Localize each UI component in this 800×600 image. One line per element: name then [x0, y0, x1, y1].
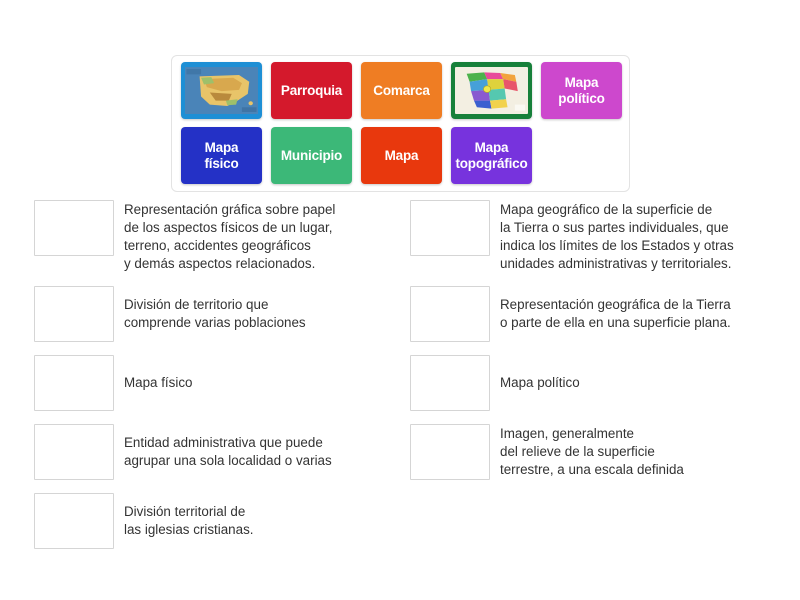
answer-row: División de territorio que comprende var…: [34, 286, 384, 342]
answer-drop-box[interactable]: [410, 286, 490, 342]
political-map-of-spain-image: [455, 67, 528, 114]
answer-row: Representación geográfica de la Tierra o…: [410, 286, 780, 342]
tile-mapa-físico[interactable]: Mapa físico: [181, 127, 262, 184]
answer-row: Entidad administrativa que puede agrupar…: [34, 424, 384, 480]
answer-definition-text: Imagen, generalmente del relieve de la s…: [490, 425, 780, 479]
tile-mapa-político[interactable]: Mapa político: [541, 62, 622, 119]
tile-row-1: ParroquiaComarcaMapa político: [181, 62, 624, 119]
answer-definition-text: Entidad administrativa que puede agrupar…: [114, 434, 384, 470]
tile-parroquia[interactable]: Parroquia: [271, 62, 352, 119]
answer-row: Representación gráfica sobre papel de lo…: [34, 200, 384, 273]
tile-row-2: Mapa físicoMunicipioMapaMapa topográfico: [181, 127, 624, 184]
answer-definition-text: Mapa político: [490, 374, 780, 392]
tile-comarca[interactable]: Comarca: [361, 62, 442, 119]
answer-drop-box[interactable]: [410, 355, 490, 411]
physical-map-of-spain-image: [185, 67, 258, 114]
answers-column-left: Representación gráfica sobre papel de lo…: [34, 200, 384, 562]
answer-definition-text: División territorial de las iglesias cri…: [114, 503, 384, 539]
answer-drop-box[interactable]: [410, 200, 490, 256]
answer-definition-text: Mapa geográfico de la superficie de la T…: [490, 200, 780, 273]
answer-tile-bank: ParroquiaComarcaMapa político Mapa físic…: [171, 55, 630, 192]
tile-mapa[interactable]: Mapa: [361, 127, 442, 184]
tile-label: Municipio: [281, 148, 342, 163]
answer-row: Imagen, generalmente del relieve de la s…: [410, 424, 780, 480]
answers-column-right: Mapa geográfico de la superficie de la T…: [410, 200, 780, 493]
answer-row: División territorial de las iglesias cri…: [34, 493, 384, 549]
answer-definition-text: Representación geográfica de la Tierra o…: [490, 296, 780, 332]
tile-label: Mapa topográfico: [455, 140, 527, 170]
tile-label: Mapa: [385, 148, 419, 163]
answer-definition-text: Mapa físico: [114, 374, 384, 392]
tile-label: Mapa físico: [204, 140, 238, 170]
answer-row: Mapa político: [410, 355, 780, 411]
tile-label: Mapa político: [558, 75, 604, 105]
answer-drop-box[interactable]: [410, 424, 490, 480]
answer-drop-box[interactable]: [34, 355, 114, 411]
tile-municipio[interactable]: Municipio: [271, 127, 352, 184]
answer-drop-box[interactable]: [34, 286, 114, 342]
answer-drop-box[interactable]: [34, 424, 114, 480]
answer-row: Mapa físico: [34, 355, 384, 411]
tile-mapa-topográfico[interactable]: Mapa topográfico: [451, 127, 532, 184]
matching-activity-page: ParroquiaComarcaMapa político Mapa físic…: [0, 0, 800, 600]
tile-political-map-image[interactable]: [451, 62, 532, 119]
answer-drop-box[interactable]: [34, 200, 114, 256]
answer-row: Mapa geográfico de la superficie de la T…: [410, 200, 780, 273]
tile-label: Comarca: [373, 83, 429, 98]
answer-definition-text: Representación gráfica sobre papel de lo…: [114, 200, 384, 273]
answer-definition-text: División de territorio que comprende var…: [114, 296, 384, 332]
answer-drop-box[interactable]: [34, 493, 114, 549]
tile-physical-map-image[interactable]: [181, 62, 262, 119]
tile-label: Parroquia: [281, 83, 342, 98]
